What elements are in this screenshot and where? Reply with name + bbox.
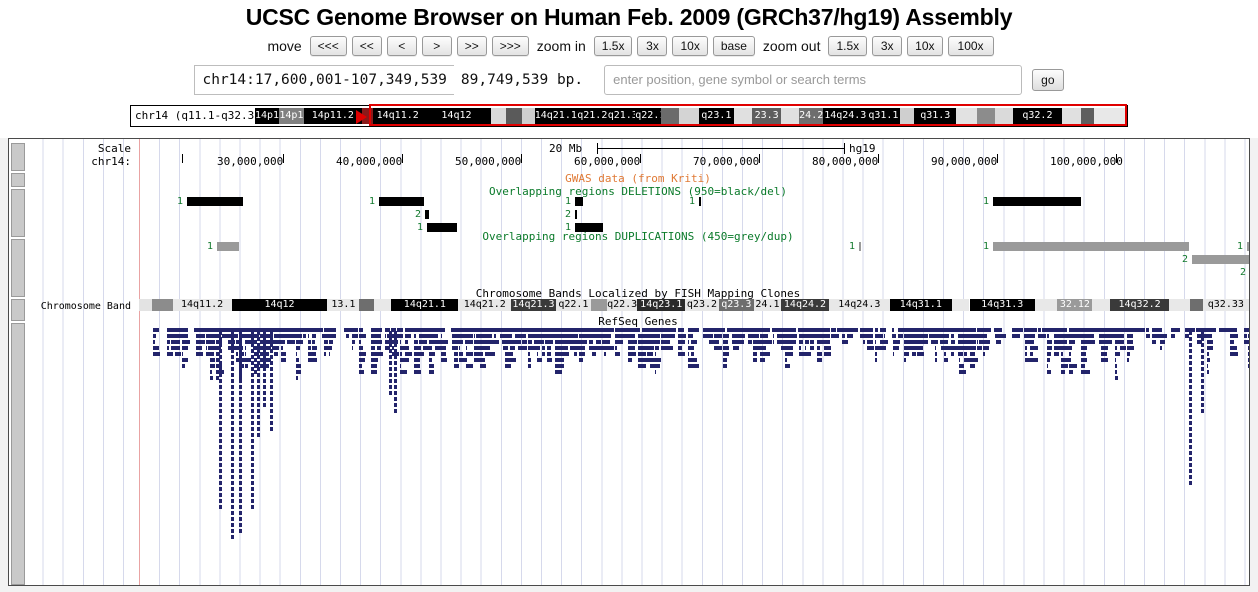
refseq-gene[interactable] xyxy=(908,328,914,332)
refseq-gene[interactable] xyxy=(1207,346,1213,350)
refseq-gene[interactable] xyxy=(764,340,772,344)
refseq-gene[interactable] xyxy=(678,328,680,332)
zoom-in-base-button[interactable]: base xyxy=(713,36,755,56)
refseq-gene[interactable] xyxy=(542,352,545,356)
refseq-gene[interactable] xyxy=(251,379,254,383)
refseq-gene[interactable] xyxy=(716,328,722,332)
refseq-gene[interactable] xyxy=(1189,457,1192,461)
refseq-gene[interactable] xyxy=(231,475,234,479)
refseq-gene[interactable] xyxy=(534,334,542,338)
refseq-gene[interactable] xyxy=(231,427,234,431)
ideogram-band[interactable]: 14p12 xyxy=(279,108,303,124)
refseq-gene[interactable] xyxy=(1152,334,1158,338)
refseq-gene[interactable] xyxy=(1189,391,1192,395)
refseq-gene[interactable] xyxy=(565,328,568,332)
refseq-gene[interactable] xyxy=(592,352,596,356)
refseq-gene[interactable] xyxy=(270,337,273,341)
refseq-gene[interactable] xyxy=(691,334,693,338)
refseq-gene[interactable] xyxy=(236,334,238,338)
refseq-gene[interactable] xyxy=(996,328,999,332)
refseq-gene[interactable] xyxy=(270,397,273,401)
refseq-gene[interactable] xyxy=(239,493,242,497)
refseq-gene[interactable] xyxy=(231,445,234,449)
refseq-gene[interactable] xyxy=(359,328,363,332)
refseq-gene[interactable] xyxy=(617,328,618,332)
refseq-gene[interactable] xyxy=(502,328,504,332)
refseq-gene[interactable] xyxy=(414,370,422,374)
refseq-gene[interactable] xyxy=(817,358,822,362)
refseq-gene[interactable] xyxy=(1062,370,1065,374)
refseq-gene[interactable] xyxy=(542,340,543,344)
refseq-gene[interactable] xyxy=(935,340,938,344)
refseq-gene[interactable] xyxy=(545,334,548,338)
refseq-gene[interactable] xyxy=(219,361,222,365)
refseq-gene[interactable] xyxy=(1189,349,1192,353)
refseq-gene[interactable] xyxy=(239,511,242,515)
refseq-gene[interactable] xyxy=(908,340,912,344)
refseq-gene[interactable] xyxy=(688,352,690,356)
refseq-gene[interactable] xyxy=(592,328,599,332)
refseq-gene[interactable] xyxy=(435,340,443,344)
refseq-gene[interactable] xyxy=(983,352,985,356)
refseq-gene[interactable] xyxy=(642,346,646,350)
refseq-gene[interactable] xyxy=(1115,334,1121,338)
refseq-gene[interactable] xyxy=(1146,328,1149,332)
refseq-gene[interactable] xyxy=(466,358,467,362)
refseq-gene[interactable] xyxy=(579,340,584,344)
refseq-gene[interactable] xyxy=(1201,361,1204,365)
ideogram-band[interactable]: q31.1 xyxy=(867,108,899,124)
zoom-out-3x-button[interactable]: 3x xyxy=(872,36,902,56)
refseq-gene[interactable] xyxy=(1115,370,1117,374)
refseq-gene[interactable] xyxy=(880,334,883,338)
refseq-gene[interactable] xyxy=(642,340,645,344)
refseq-gene[interactable] xyxy=(515,328,518,332)
refseq-gene[interactable] xyxy=(1127,358,1129,362)
refseq-gene[interactable] xyxy=(257,337,260,341)
refseq-gene[interactable] xyxy=(555,328,562,332)
refseq-gene[interactable] xyxy=(842,334,845,338)
refseq-gene[interactable] xyxy=(592,340,594,344)
refseq-gene[interactable] xyxy=(153,340,156,344)
refseq-gene[interactable] xyxy=(1207,370,1209,374)
refseq-gene[interactable] xyxy=(1069,328,1076,332)
refseq-gene[interactable] xyxy=(1101,358,1109,362)
refseq-gene[interactable] xyxy=(239,343,242,347)
refseq-gene[interactable] xyxy=(429,340,434,344)
refseq-gene[interactable] xyxy=(257,391,260,395)
refseq-gene[interactable] xyxy=(1153,328,1156,332)
track-handle-refseq[interactable] xyxy=(11,323,25,585)
refseq-gene[interactable] xyxy=(712,328,713,332)
refseq-gene[interactable] xyxy=(308,352,313,356)
refseq-gene[interactable] xyxy=(346,334,349,338)
refseq-gene[interactable] xyxy=(389,379,392,383)
refseq-gene[interactable] xyxy=(1189,469,1192,473)
refseq-gene[interactable] xyxy=(239,439,242,443)
move-far-left-button[interactable]: <<< xyxy=(310,36,347,56)
refseq-gene[interactable] xyxy=(329,340,333,344)
refseq-gene[interactable] xyxy=(344,328,347,332)
refseq-gene[interactable] xyxy=(251,373,254,377)
refseq-gene[interactable] xyxy=(231,355,234,359)
chromosome-band-segment[interactable] xyxy=(1092,299,1110,311)
refseq-gene[interactable] xyxy=(555,352,560,356)
refseq-gene[interactable] xyxy=(257,427,260,431)
refseq-gene[interactable] xyxy=(219,499,222,503)
refseq-gene[interactable] xyxy=(459,358,466,362)
refseq-gene[interactable] xyxy=(219,421,222,425)
ideogram-band-track[interactable]: 14p1314p1214p11.214q11.214q1214q21.1q21.… xyxy=(255,108,1125,124)
refseq-gene[interactable] xyxy=(287,340,294,344)
track-handle-deletions[interactable] xyxy=(11,189,25,237)
refseq-gene[interactable] xyxy=(263,331,266,335)
refseq-gene[interactable] xyxy=(967,328,971,332)
refseq-gene[interactable] xyxy=(1069,364,1077,368)
refseq-gene[interactable] xyxy=(400,370,407,374)
refseq-gene[interactable] xyxy=(655,334,660,338)
refseq-gene[interactable] xyxy=(231,397,234,401)
refseq-gene[interactable] xyxy=(239,433,242,437)
refseq-gene[interactable] xyxy=(1189,481,1192,485)
refseq-gene[interactable] xyxy=(371,352,379,356)
refseq-gene[interactable] xyxy=(1201,355,1204,359)
refseq-gene[interactable] xyxy=(904,358,906,362)
refseq-gene[interactable] xyxy=(661,346,664,350)
refseq-gene[interactable] xyxy=(459,346,460,350)
refseq-gene[interactable] xyxy=(1070,334,1072,338)
refseq-gene[interactable] xyxy=(1115,328,1118,332)
refseq-gene[interactable] xyxy=(231,529,234,533)
refseq-gene[interactable] xyxy=(1025,352,1027,356)
refseq-gene[interactable] xyxy=(281,352,286,356)
refseq-gene[interactable] xyxy=(655,340,661,344)
refseq-gene[interactable] xyxy=(239,397,242,401)
ideogram-band[interactable]: 14q11.2 xyxy=(373,108,422,124)
refseq-gene[interactable] xyxy=(528,364,531,368)
refseq-gene[interactable] xyxy=(186,328,188,332)
refseq-gene[interactable] xyxy=(1069,370,1072,374)
refseq-gene[interactable] xyxy=(615,334,620,338)
refseq-gene[interactable] xyxy=(647,358,649,362)
refseq-gene[interactable] xyxy=(1244,334,1247,338)
refseq-gene[interactable] xyxy=(714,340,715,344)
refseq-gene[interactable] xyxy=(515,340,519,344)
refseq-gene[interactable] xyxy=(688,328,694,332)
refseq-gene[interactable] xyxy=(239,349,242,353)
refseq-gene[interactable] xyxy=(824,346,831,350)
refseq-gene[interactable] xyxy=(892,328,895,332)
refseq-gene[interactable] xyxy=(929,328,931,332)
refseq-gene[interactable] xyxy=(1047,340,1052,344)
refseq-gene[interactable] xyxy=(441,328,444,332)
refseq-gene[interactable] xyxy=(435,346,442,350)
refseq-gene[interactable] xyxy=(231,535,234,539)
refseq-gene[interactable] xyxy=(996,340,1001,344)
refseq-gene[interactable] xyxy=(219,355,222,359)
refseq-gene[interactable] xyxy=(239,421,242,425)
refseq-gene[interactable] xyxy=(394,403,397,407)
deletions-feature[interactable] xyxy=(575,197,583,206)
refseq-gene[interactable] xyxy=(977,346,982,350)
refseq-gene[interactable] xyxy=(884,340,888,344)
refseq-gene[interactable] xyxy=(642,358,650,362)
refseq-gene[interactable] xyxy=(239,415,242,419)
refseq-gene[interactable] xyxy=(466,346,467,350)
refseq-gene[interactable] xyxy=(239,391,242,395)
refseq-gene[interactable] xyxy=(628,340,635,344)
refseq-gene[interactable] xyxy=(547,352,551,356)
refseq-gene[interactable] xyxy=(414,364,421,368)
refseq-gene[interactable] xyxy=(781,346,785,350)
refseq-gene[interactable] xyxy=(1086,328,1091,332)
refseq-gene[interactable] xyxy=(980,328,988,332)
refseq-gene[interactable] xyxy=(455,340,461,344)
refseq-gene[interactable] xyxy=(296,340,304,344)
ideogram-band[interactable]: q22.1 xyxy=(635,108,661,124)
refseq-gene[interactable] xyxy=(377,346,382,350)
refseq-gene[interactable] xyxy=(893,346,900,350)
refseq-gene[interactable] xyxy=(251,445,254,449)
refseq-gene[interactable] xyxy=(921,328,926,332)
refseq-gene[interactable] xyxy=(153,334,156,338)
refseq-gene[interactable] xyxy=(251,331,254,335)
refseq-gene[interactable] xyxy=(569,328,576,332)
refseq-gene[interactable] xyxy=(944,358,948,362)
refseq-gene[interactable] xyxy=(251,403,254,407)
refseq-gene[interactable] xyxy=(867,334,869,338)
refseq-gene[interactable] xyxy=(760,358,765,362)
refseq-gene[interactable] xyxy=(245,334,248,338)
refseq-gene[interactable] xyxy=(239,517,242,521)
refseq-gene[interactable] xyxy=(231,487,234,491)
refseq-gene[interactable] xyxy=(419,346,422,350)
refseq-gene[interactable] xyxy=(753,358,758,362)
refseq-gene[interactable] xyxy=(312,340,315,344)
refseq-gene[interactable] xyxy=(251,397,254,401)
refseq-gene[interactable] xyxy=(1201,391,1204,395)
refseq-gene[interactable] xyxy=(842,340,848,344)
refseq-gene[interactable] xyxy=(429,370,434,374)
refseq-gene[interactable] xyxy=(592,334,599,338)
refseq-gene[interactable] xyxy=(359,334,366,338)
chromosome-band-segment[interactable]: q23.2 xyxy=(685,299,719,311)
refseq-gene[interactable] xyxy=(297,328,299,332)
refseq-gene[interactable] xyxy=(270,391,273,395)
refseq-gene[interactable] xyxy=(1127,346,1134,350)
refseq-gene[interactable] xyxy=(1032,334,1036,338)
refseq-gene[interactable] xyxy=(405,334,407,338)
refseq-gene[interactable] xyxy=(394,379,397,383)
refseq-gene[interactable] xyxy=(168,328,169,332)
refseq-gene[interactable] xyxy=(959,328,966,332)
refseq-gene[interactable] xyxy=(257,331,260,335)
refseq-gene[interactable] xyxy=(1189,409,1192,413)
refseq-gene[interactable] xyxy=(655,370,657,374)
refseq-gene[interactable] xyxy=(281,346,284,350)
refseq-gene[interactable] xyxy=(967,346,969,350)
refseq-gene[interactable] xyxy=(951,346,959,350)
refseq-gene[interactable] xyxy=(537,358,543,362)
refseq-gene[interactable] xyxy=(263,349,266,353)
refseq-gene[interactable] xyxy=(638,328,640,332)
refseq-gene[interactable] xyxy=(459,352,463,356)
refseq-gene[interactable] xyxy=(628,346,634,350)
refseq-gene[interactable] xyxy=(263,355,266,359)
chromosome-ideogram[interactable]: chr14 (q11.1-q32.33) 14p1314p1214p11.214… xyxy=(130,105,1128,127)
refseq-gene[interactable] xyxy=(352,346,353,350)
refseq-gene[interactable] xyxy=(435,328,440,332)
refseq-gene[interactable] xyxy=(1189,403,1192,407)
refseq-gene[interactable] xyxy=(642,352,646,356)
refseq-gene[interactable] xyxy=(455,334,457,338)
refseq-gene[interactable] xyxy=(1160,346,1162,350)
refseq-gene[interactable] xyxy=(1062,346,1069,350)
refseq-gene[interactable] xyxy=(182,358,189,362)
refseq-gene[interactable] xyxy=(270,367,273,371)
refseq-gene[interactable] xyxy=(1115,352,1120,356)
refseq-gene[interactable] xyxy=(239,523,242,527)
refseq-gene[interactable] xyxy=(219,481,222,485)
refseq-gene[interactable] xyxy=(1189,367,1192,371)
refseq-gene[interactable] xyxy=(405,358,409,362)
refseq-gene[interactable] xyxy=(296,358,299,362)
chromosome-band-segment[interactable]: 14q12 xyxy=(232,299,328,311)
refseq-gene[interactable] xyxy=(1189,463,1192,467)
refseq-gene[interactable] xyxy=(474,340,478,344)
refseq-gene[interactable] xyxy=(1101,340,1106,344)
refseq-gene[interactable] xyxy=(1081,334,1084,338)
refseq-gene[interactable] xyxy=(418,328,424,332)
refseq-gene[interactable] xyxy=(756,340,760,344)
refseq-gene[interactable] xyxy=(602,328,603,332)
refseq-gene[interactable] xyxy=(1082,352,1086,356)
refseq-gene[interactable] xyxy=(231,493,234,497)
refseq-gene[interactable] xyxy=(583,346,585,350)
refseq-gene[interactable] xyxy=(283,328,286,332)
refseq-gene[interactable] xyxy=(824,328,830,332)
refseq-gene[interactable] xyxy=(263,391,266,395)
refseq-gene[interactable] xyxy=(1189,379,1192,383)
refseq-gene[interactable] xyxy=(824,352,831,356)
refseq-gene[interactable] xyxy=(1092,334,1094,338)
refseq-gene[interactable] xyxy=(474,358,481,362)
refseq-gene[interactable] xyxy=(1189,475,1192,479)
refseq-gene[interactable] xyxy=(723,340,728,344)
refseq-gene[interactable] xyxy=(223,328,225,332)
refseq-gene[interactable] xyxy=(263,343,266,347)
refseq-gene[interactable] xyxy=(884,334,885,338)
refseq-gene[interactable] xyxy=(673,328,676,332)
refseq-gene[interactable] xyxy=(168,334,169,338)
refseq-gene[interactable] xyxy=(400,328,404,332)
refseq-gene[interactable] xyxy=(607,328,613,332)
refseq-gene[interactable] xyxy=(1230,340,1234,344)
refseq-gene[interactable] xyxy=(251,361,254,365)
refseq-gene[interactable] xyxy=(638,334,642,338)
refseq-gene[interactable] xyxy=(781,328,785,332)
refseq-gene[interactable] xyxy=(251,499,254,503)
chromosome-band-segment[interactable]: 14q21.2 xyxy=(458,299,511,311)
refseq-gene[interactable] xyxy=(1001,334,1006,338)
refseq-gene[interactable] xyxy=(875,352,877,356)
refseq-gene[interactable] xyxy=(898,334,904,338)
refseq-gene[interactable] xyxy=(231,481,234,485)
refseq-gene[interactable] xyxy=(555,358,560,362)
refseq-gene[interactable] xyxy=(615,340,623,344)
refseq-gene[interactable] xyxy=(359,370,365,374)
refseq-gene[interactable] xyxy=(219,331,222,335)
refseq-gene[interactable] xyxy=(1086,340,1094,344)
refseq-gene[interactable] xyxy=(231,373,234,377)
refseq-gene[interactable] xyxy=(655,352,656,356)
refseq-gene[interactable] xyxy=(523,340,527,344)
refseq-gene[interactable] xyxy=(405,346,409,350)
refseq-gene[interactable] xyxy=(1115,364,1117,368)
refseq-gene[interactable] xyxy=(831,334,839,338)
refseq-gene[interactable] xyxy=(239,499,242,503)
refseq-gene[interactable] xyxy=(251,385,254,389)
chromosome-band-segment[interactable] xyxy=(591,299,607,311)
refseq-gene[interactable] xyxy=(371,346,375,350)
refseq-gene[interactable] xyxy=(1086,346,1087,350)
refseq-gene[interactable] xyxy=(312,334,316,338)
refseq-gene[interactable] xyxy=(959,364,964,368)
refseq-gene[interactable] xyxy=(1160,340,1165,344)
refseq-gene[interactable] xyxy=(153,352,161,356)
refseq-gene[interactable] xyxy=(371,334,376,338)
refseq-gene[interactable] xyxy=(239,403,242,407)
refseq-gene[interactable] xyxy=(153,328,159,332)
refseq-gene[interactable] xyxy=(935,352,937,356)
ideogram-band[interactable] xyxy=(1062,108,1081,124)
refseq-gene[interactable] xyxy=(182,364,185,368)
refseq-gene[interactable] xyxy=(424,328,426,332)
ideogram-band[interactable]: q21.3 xyxy=(608,108,636,124)
refseq-gene[interactable] xyxy=(1189,439,1192,443)
refseq-gene[interactable] xyxy=(1047,346,1052,350)
duplications-feature[interactable] xyxy=(859,242,861,251)
refseq-gene[interactable] xyxy=(389,355,392,359)
refseq-gene[interactable] xyxy=(1201,397,1204,401)
chromosome-band-segment[interactable]: 13.1 xyxy=(327,299,359,311)
track-handle-chrom-band[interactable] xyxy=(11,299,25,321)
refseq-gene[interactable] xyxy=(981,340,987,344)
refseq-gene[interactable] xyxy=(231,385,234,389)
refseq-gene[interactable] xyxy=(1054,352,1059,356)
refseq-gene[interactable] xyxy=(371,364,377,368)
refseq-gene[interactable] xyxy=(592,346,595,350)
refseq-gene[interactable] xyxy=(505,352,510,356)
chromosome-band-segment[interactable] xyxy=(1190,299,1203,311)
refseq-gene[interactable] xyxy=(454,364,458,368)
ideogram-band[interactable] xyxy=(734,108,752,124)
refseq-gene[interactable] xyxy=(919,346,922,350)
refseq-gene[interactable] xyxy=(1099,328,1101,332)
refseq-gene[interactable] xyxy=(781,340,784,344)
refseq-gene[interactable] xyxy=(748,340,752,344)
refseq-gene[interactable] xyxy=(1127,334,1133,338)
refseq-gene[interactable] xyxy=(485,352,492,356)
refseq-gene[interactable] xyxy=(867,346,874,350)
refseq-gene[interactable] xyxy=(867,340,873,344)
refseq-gene[interactable] xyxy=(938,334,941,338)
refseq-gene[interactable] xyxy=(733,340,738,344)
ideogram-band[interactable] xyxy=(781,108,799,124)
refseq-gene[interactable] xyxy=(239,373,242,377)
refseq-gene[interactable] xyxy=(219,373,222,377)
refseq-gene[interactable] xyxy=(723,346,728,350)
